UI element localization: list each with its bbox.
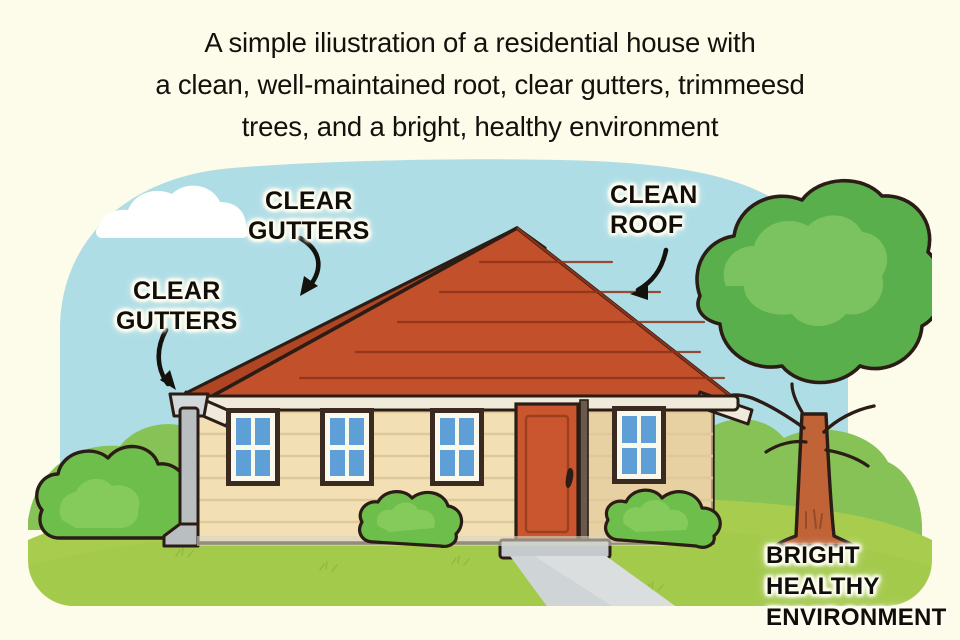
front-door[interactable] xyxy=(516,404,578,544)
downspout-right xyxy=(580,400,588,546)
illustration-canvas: A simple iliustration of a residential h… xyxy=(0,0,960,640)
annotation-clear-gutters-roof: CLEAR GUTTERS xyxy=(248,186,370,246)
window xyxy=(226,408,280,486)
annotation-bright-healthy-environment: BRIGHT HEALTHY ENVIRONMENT xyxy=(766,540,947,633)
annotation-clean-roof: CLEAN ROOF xyxy=(610,180,698,240)
window xyxy=(320,408,374,486)
window xyxy=(430,408,484,486)
caption-text: A simple iliustration of a residential h… xyxy=(0,22,960,148)
annotation-clear-gutters-left: CLEAR GUTTERS xyxy=(116,276,238,336)
window xyxy=(612,406,666,484)
